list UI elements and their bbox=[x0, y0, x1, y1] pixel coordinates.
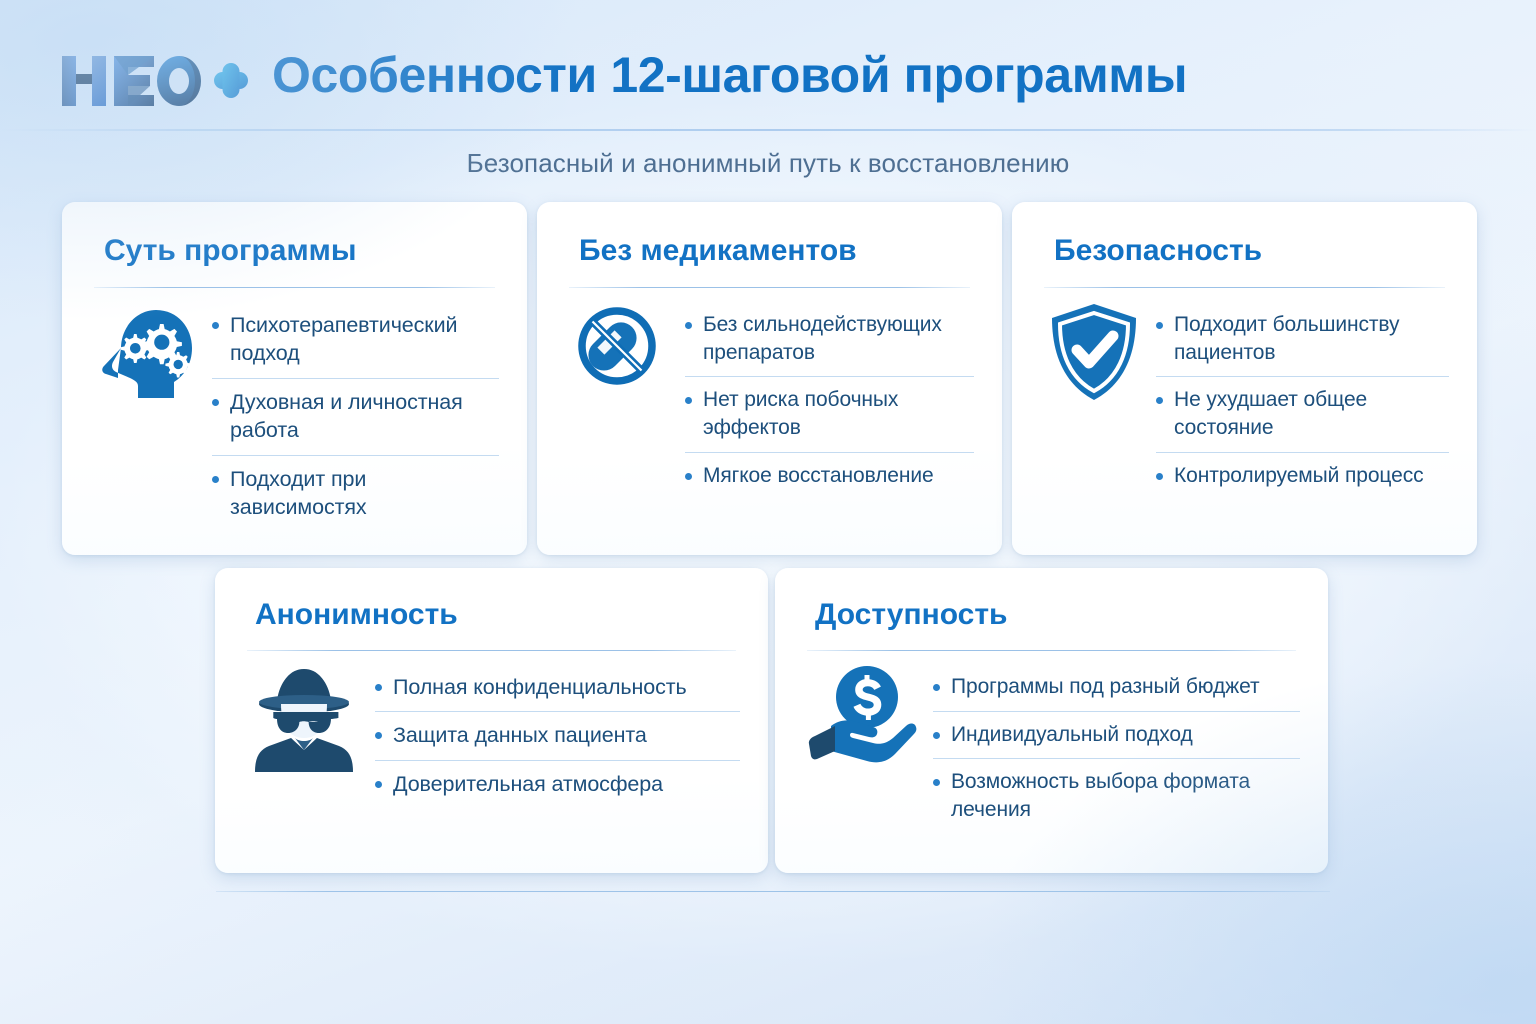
head-with-gears-icon bbox=[94, 302, 198, 406]
bullet-label: Полная конфиденциальность bbox=[393, 673, 687, 701]
card-safety[interactable]: Безопасность Подходит большинству пациен… bbox=[1012, 202, 1477, 555]
bullet-list: Полная конфиденциальность Защита данных … bbox=[375, 664, 740, 808]
list-item: Защита данных пациента bbox=[375, 712, 740, 760]
bullet-label: Не ухудшает общее состояние bbox=[1174, 386, 1449, 441]
card-body: Психотерапевтический подход Духовная и л… bbox=[94, 302, 499, 535]
list-item: Не ухудшает общее состояние bbox=[1156, 377, 1449, 452]
bullet-dot-icon bbox=[685, 322, 692, 329]
card-title-divider bbox=[807, 650, 1296, 651]
bullet-dot-icon bbox=[933, 684, 940, 691]
card-title-divider bbox=[94, 287, 495, 288]
card-anonymity[interactable]: Анонимность bbox=[215, 568, 768, 873]
list-item: Индивидуальный подход bbox=[933, 712, 1300, 760]
bullet-dot-icon bbox=[212, 322, 219, 329]
card-title: Без медикаментов bbox=[579, 234, 857, 267]
bullet-dot-icon bbox=[375, 684, 382, 691]
bullet-label: Мягкое восстановление bbox=[703, 462, 934, 490]
list-item: Подходит при зависимостях bbox=[212, 456, 499, 532]
list-item: Полная конфиденциальность bbox=[375, 664, 740, 712]
bullet-dot-icon bbox=[1156, 322, 1163, 329]
bullet-label: Возможность выбора формата лечения bbox=[951, 768, 1300, 823]
bullet-label: Духовная и личностная работа bbox=[230, 388, 499, 445]
bullet-label: Защита данных пациента bbox=[393, 721, 647, 749]
bullet-label: Программы под разный бюджет bbox=[951, 673, 1259, 701]
bullet-dot-icon bbox=[1156, 473, 1163, 480]
bullet-dot-icon bbox=[933, 732, 940, 739]
header: Особенности 12-шаговой программы bbox=[0, 0, 1536, 128]
card-body: Программы под разный бюджет Индивидуальн… bbox=[805, 664, 1300, 847]
bullet-label: Без сильнодействующих препаратов bbox=[703, 311, 974, 366]
bullet-dot-icon bbox=[375, 732, 382, 739]
bullet-list: Психотерапевтический подход Духовная и л… bbox=[212, 302, 499, 531]
header-divider bbox=[0, 129, 1536, 131]
card-body: Без сильнодействующих препаратов Нет рис… bbox=[569, 302, 974, 535]
card-title: Суть программы bbox=[104, 234, 356, 267]
list-item: Нет риска побочных эффектов bbox=[685, 377, 974, 452]
bullet-dot-icon bbox=[933, 779, 940, 786]
card-body: Подходит большинству пациентов Не ухудша… bbox=[1048, 302, 1449, 535]
bullet-dot-icon bbox=[375, 781, 382, 788]
bullet-dot-icon bbox=[212, 399, 219, 406]
neo-plus-logo-icon bbox=[62, 50, 248, 112]
card-title-divider bbox=[247, 650, 736, 651]
card-title: Безопасность bbox=[1054, 234, 1262, 267]
card-title: Анонимность bbox=[255, 598, 458, 631]
bullet-list: Программы под разный бюджет Индивидуальн… bbox=[933, 664, 1300, 834]
list-item: Без сильнодействующих препаратов bbox=[685, 302, 974, 377]
no-pills-icon bbox=[569, 302, 665, 398]
bullet-list: Без сильнодействующих препаратов Нет рис… bbox=[685, 302, 974, 500]
page-title: Особенности 12-шаговой программы bbox=[272, 47, 1187, 103]
card-title-divider bbox=[569, 287, 970, 288]
card-essence[interactable]: Суть программы bbox=[62, 202, 527, 555]
bullet-label: Нет риска побочных эффектов bbox=[703, 386, 974, 441]
hand-holding-dollar-coin-icon bbox=[805, 664, 917, 768]
bullet-dot-icon bbox=[685, 397, 692, 404]
bullet-label: Подходит при зависимостях bbox=[230, 465, 499, 522]
list-item: Программы под разный бюджет bbox=[933, 664, 1300, 712]
bullet-dot-icon bbox=[685, 473, 692, 480]
list-item: Духовная и личностная работа bbox=[212, 379, 499, 456]
spy-hat-sunglasses-icon bbox=[251, 664, 357, 778]
bullet-label: Контролируемый процесс bbox=[1174, 462, 1424, 490]
bullet-dot-icon bbox=[212, 476, 219, 483]
card-body: Полная конфиденциальность Защита данных … bbox=[251, 664, 740, 847]
page-subtitle: Безопасный и анонимный путь к восстановл… bbox=[0, 148, 1536, 179]
bullet-label: Доверительная атмосфера bbox=[393, 770, 663, 798]
list-item: Психотерапевтический подход bbox=[212, 302, 499, 379]
footer-divider bbox=[216, 891, 1330, 892]
card-title: Доступность bbox=[815, 598, 1007, 631]
list-item: Доверительная атмосфера bbox=[375, 761, 740, 808]
bullet-label: Подходит большинству пациентов bbox=[1174, 311, 1449, 366]
bullet-label: Индивидуальный подход bbox=[951, 721, 1193, 749]
shield-check-icon bbox=[1048, 302, 1140, 402]
card-title-divider bbox=[1044, 287, 1445, 288]
list-item: Подходит большинству пациентов bbox=[1156, 302, 1449, 377]
card-access[interactable]: Доступность Программы под разный бюджет bbox=[775, 568, 1328, 873]
bullet-list: Подходит большинству пациентов Не ухудша… bbox=[1156, 302, 1449, 500]
bullet-label: Психотерапевтический подход bbox=[230, 311, 499, 368]
list-item: Возможность выбора формата лечения bbox=[933, 759, 1300, 833]
bullet-dot-icon bbox=[1156, 397, 1163, 404]
card-nomeds[interactable]: Без медикаментов Без сильнодействующих п bbox=[537, 202, 1002, 555]
list-item: Мягкое восстановление bbox=[685, 453, 974, 500]
infographic-canvas: Особенности 12-шаговой программы Безопас… bbox=[0, 0, 1536, 1024]
list-item: Контролируемый процесс bbox=[1156, 453, 1449, 500]
